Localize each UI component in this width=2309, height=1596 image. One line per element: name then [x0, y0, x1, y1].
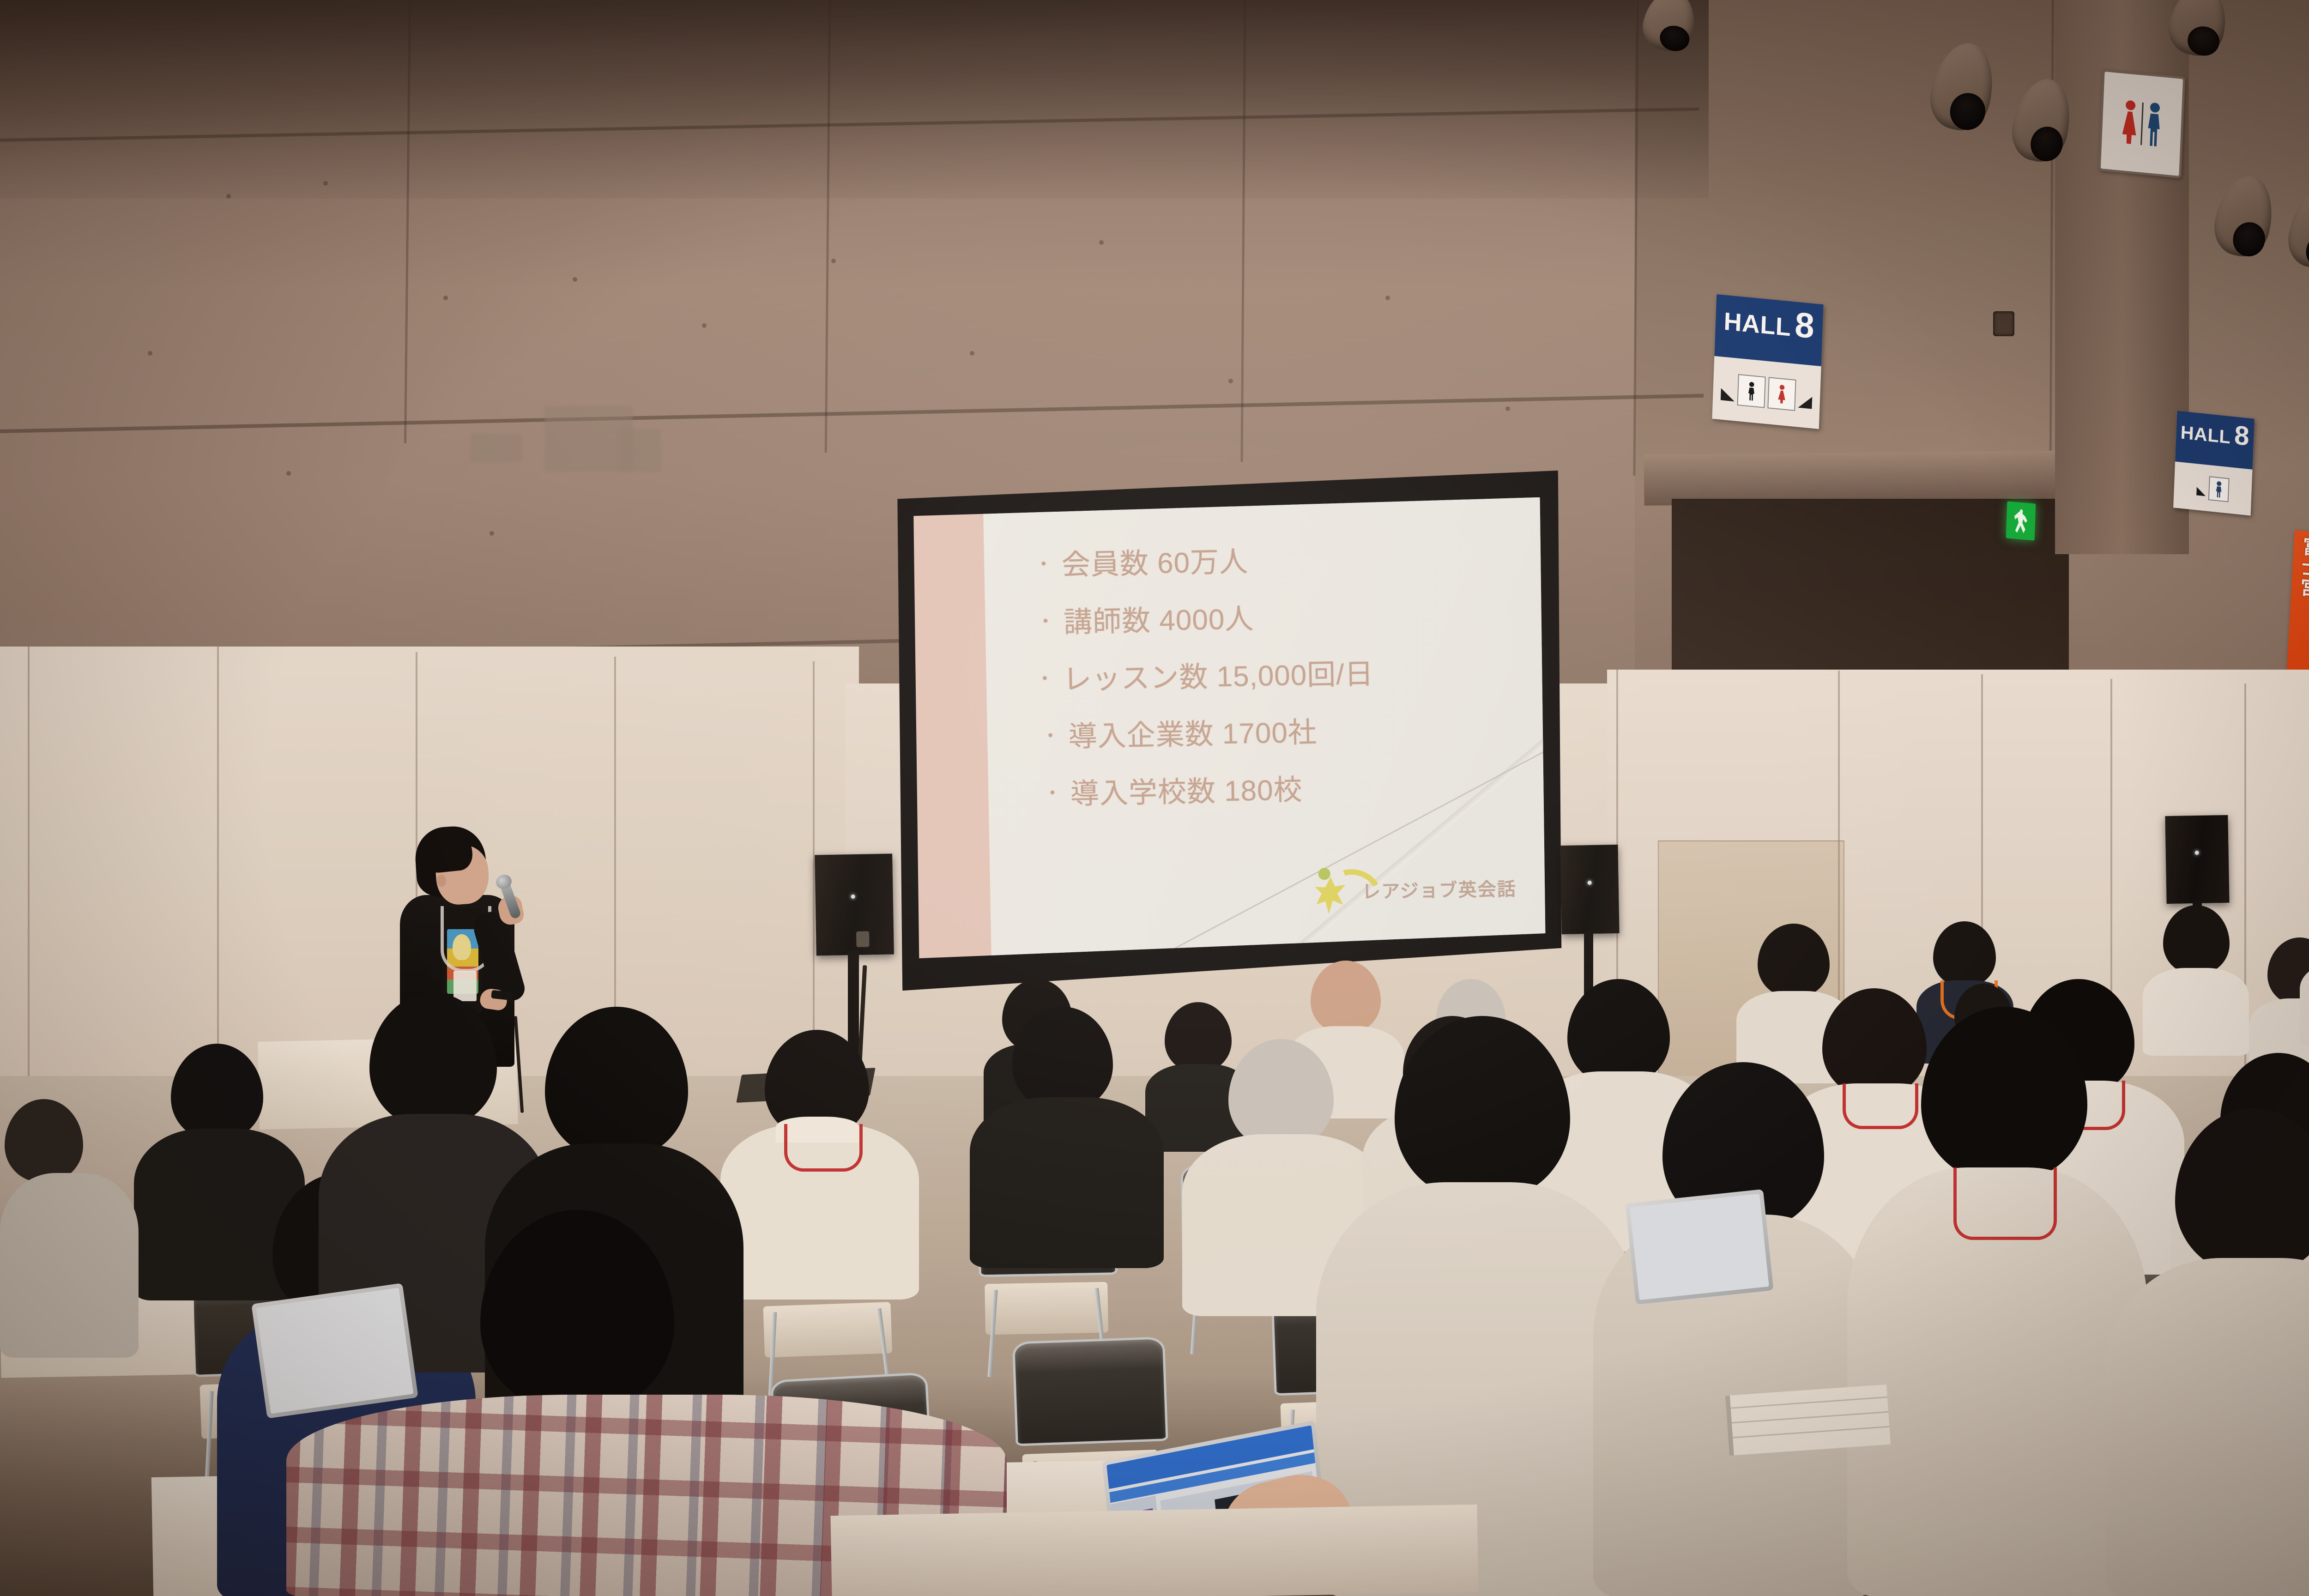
female-restroom-box-icon — [1767, 377, 1796, 411]
rarejob-logo-text: レアジョブ英会話 — [1362, 874, 1517, 904]
audience-member — [1847, 1007, 2147, 1596]
photo-scene: HALL 8 HALL 8 富士宮 やき — [0, 0, 2309, 1596]
hall-sign-left-number: 8 — [1794, 304, 1815, 346]
notebook — [1725, 1384, 1891, 1456]
hall-sign-right-label: HALL — [2180, 422, 2231, 448]
wall-shadow — [0, 0, 1709, 199]
audience-member — [2106, 1108, 2309, 1596]
slide-bullet-item: ・ レッスン数 15,000回/日 — [1035, 657, 1526, 695]
slide-bullet-item: ・ 講師数 4000人 — [1036, 600, 1527, 637]
projection-screen: ・ 会員数 60万人 ・ 講師数 4000人 ・ レッスン数 15,000回/日… — [893, 471, 1567, 991]
female-pictogram-icon — [2121, 100, 2139, 145]
attendee-lanyard — [1953, 1167, 2057, 1240]
rarejob-logo: レアジョブ英会話 — [1314, 864, 1517, 915]
slide-bullet-text: 講師数 4000人 — [1064, 605, 1254, 637]
bullet-marker-icon: ・ — [1035, 669, 1055, 688]
hall-sign-left-top: HALL 8 — [1714, 294, 1823, 366]
hall-sign-right-pictograms — [2173, 461, 2252, 515]
hall-sign-left-label: HALL — [1723, 307, 1792, 342]
audience-laptop[interactable] — [1625, 1189, 1773, 1305]
ceiling-soffit — [1644, 450, 2078, 506]
running-person-icon — [2013, 508, 2028, 534]
wall-patch — [471, 434, 522, 462]
hall-sign-left-pictograms — [1712, 356, 1821, 429]
slide-bullet-list: ・ 会員数 60万人 ・ 講師数 4000人 ・ レッスン数 15,000回/日… — [1031, 543, 1526, 838]
audience-laptop[interactable] — [251, 1283, 418, 1418]
presentation-slide: ・ 会員数 60万人 ・ 講師数 4000人 ・ レッスン数 15,000回/日… — [983, 497, 1548, 957]
audience-member — [2300, 905, 2309, 1044]
slide-bullet-text: 導入学校数 180校 — [1070, 776, 1303, 809]
bullet-marker-icon: ・ — [1043, 784, 1063, 803]
presenter-ear — [437, 875, 446, 887]
bullet-marker-icon: ・ — [1041, 726, 1060, 745]
male-pictogram-icon — [2145, 102, 2163, 148]
bullet-marker-icon: ・ — [1036, 612, 1056, 631]
restroom-box-icon — [2208, 476, 2230, 502]
arrow-left-icon — [1721, 376, 1735, 401]
bullet-marker-icon: ・ — [1034, 555, 1054, 574]
hall-sign-left: HALL 8 — [1712, 294, 1823, 429]
hall-sign-right-number: 8 — [2234, 419, 2250, 452]
banner-text-line1: 富士宮 — [2297, 536, 2309, 598]
slide-bullet-item: ・ 導入学校数 180校 — [1043, 772, 1533, 809]
restroom-sign — [2098, 69, 2186, 179]
audience-member — [1593, 1062, 1880, 1596]
slide-bullet-text: レッスン数 15,000回/日 — [1063, 660, 1374, 694]
hall-sign-right-top: HALL 8 — [2175, 411, 2255, 469]
pa-speaker-left — [815, 854, 894, 956]
slide-bullet-item: ・ 導入企業数 1700社 — [1041, 714, 1531, 752]
attendee-lanyard — [784, 1124, 863, 1172]
audience-member — [0, 1099, 139, 1358]
screen-fabric: ・ 会員数 60万人 ・ 講師数 4000人 ・ レッスン数 15,000回/日… — [911, 497, 1548, 958]
emergency-exit-sign — [2006, 501, 2036, 540]
arrow-right-icon — [1798, 384, 1813, 409]
pa-speaker-right — [1560, 845, 1619, 934]
slide-bullet-text: 会員数 60万人 — [1061, 548, 1248, 580]
pa-speaker-far-right — [2165, 815, 2229, 904]
slide-bullet-item: ・ 会員数 60万人 — [1034, 543, 1524, 580]
sign-divider — [2140, 103, 2144, 145]
hall-sign-right: HALL 8 — [2173, 411, 2255, 515]
security-camera-icon — [1993, 311, 2014, 336]
male-restroom-box-icon — [1737, 374, 1765, 408]
rarejob-star-icon — [1314, 866, 1356, 915]
slide-bullet-text: 導入企業数 1700社 — [1068, 718, 1317, 751]
arrow-left-icon — [2196, 478, 2206, 496]
wall-patch — [619, 429, 660, 471]
front-table — [830, 1505, 1478, 1596]
